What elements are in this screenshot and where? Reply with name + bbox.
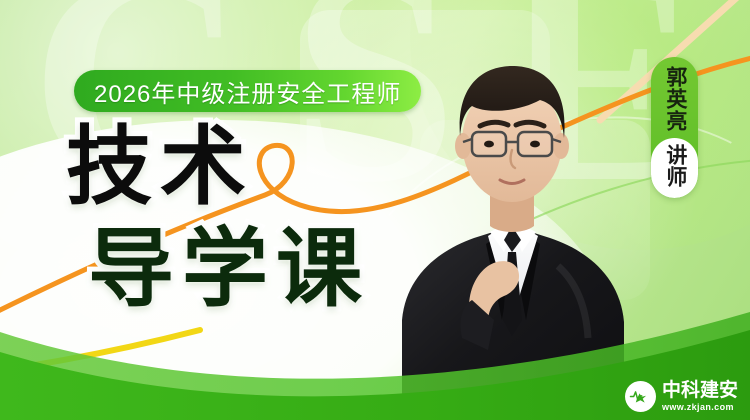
instructor-role-chip: 讲师 (651, 138, 698, 198)
brand-text: 中科建安 www.zkjan.com (662, 381, 738, 412)
instructor-badge: 郭英亮 讲师 (651, 57, 698, 198)
eye-left (484, 141, 494, 148)
instructor-name: 郭英亮 (663, 57, 686, 138)
course-badge-label: 2026年中级注册安全工程师 (94, 74, 401, 109)
instructor-role: 讲师 (663, 144, 686, 188)
ear-right (553, 133, 569, 159)
brand-url: www.zkjan.com (662, 403, 738, 412)
brand-name: 中科建安 (662, 381, 738, 400)
title-line-2: 导学课 (88, 226, 370, 312)
brand-logo: 中科建安 www.zkjan.com (625, 381, 738, 412)
ear-left (455, 133, 471, 159)
course-poster: CSE (0, 0, 750, 420)
eye-right (530, 141, 540, 148)
title-line-1: 技术 (66, 124, 370, 210)
page-title: 技术 导学课 (66, 124, 370, 312)
course-badge: 2026年中级注册安全工程师 (74, 70, 421, 112)
zkjan-logo-icon (625, 381, 656, 412)
